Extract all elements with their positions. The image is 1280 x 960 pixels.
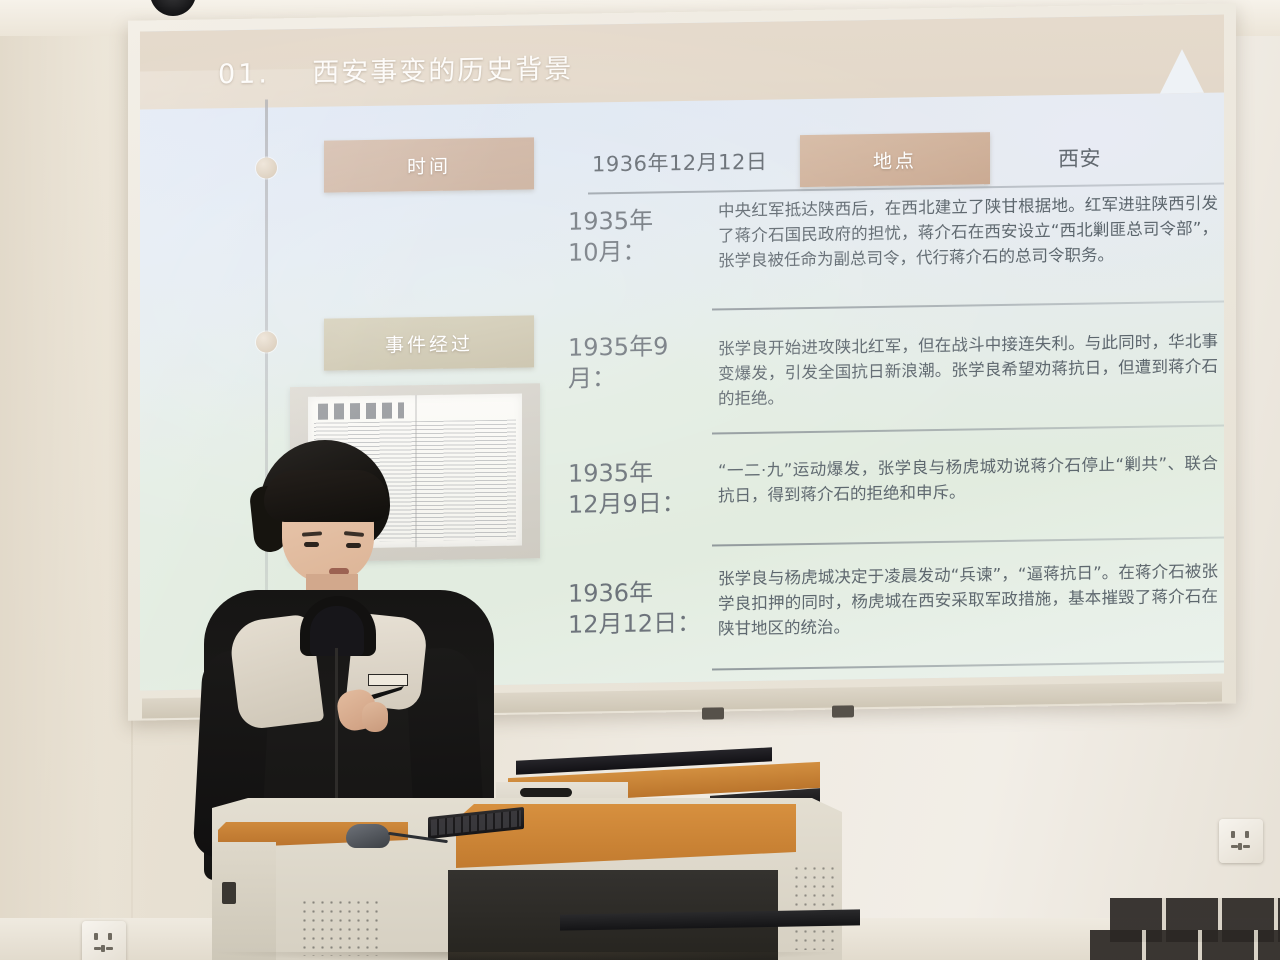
presenter-fringe <box>264 470 388 522</box>
row-body: 张学良与杨虎城决定于凌晨发动“兵谏”，“逼蒋抗日”。在蒋介石被张学良扣押的同时，… <box>718 559 1218 642</box>
outlet-holes <box>90 929 118 957</box>
chip-time: 时间 <box>324 137 534 192</box>
podium-mouse[interactable] <box>346 824 390 848</box>
row-divider <box>712 300 1224 310</box>
timeline-dot-1 <box>256 157 277 178</box>
lectern-podium: 西安翻译学院 XI'AN FANYI UNIVERSITY <box>212 752 842 960</box>
header-date-value: 1936年12月12日 <box>592 146 767 179</box>
podium-side-panel[interactable] <box>212 842 276 960</box>
slide-title-number: 01. <box>218 58 270 90</box>
row-date: 1936年 12月12日： <box>568 577 701 641</box>
newspaper-masthead <box>318 402 404 419</box>
chip-place: 地点 <box>800 132 990 187</box>
power-outlet-left[interactable] <box>82 921 126 960</box>
slide-title-text: 西安事变的历史背景 <box>312 54 573 89</box>
podium-speaker-grille-right <box>792 864 836 950</box>
slide-title: 01. 西安事变的历史背景 <box>218 47 573 92</box>
timeline-dot-2 <box>256 331 277 352</box>
row-date: 1935年 10月： <box>568 205 653 268</box>
jacket-label-tag <box>368 674 408 686</box>
presenter-eye-right <box>346 543 361 548</box>
presenter-eye-left <box>304 542 319 547</box>
row-divider <box>712 536 1224 546</box>
row-divider <box>712 424 1224 434</box>
row-date: 1935年 12月9日： <box>568 457 686 521</box>
podium-shadow <box>212 952 842 960</box>
presenter-hand-right <box>362 702 388 732</box>
classroom-scene: 01. 西安事变的历史背景 时间 事件经过 地点 1936年12月12日 西安 <box>0 0 1280 960</box>
chip-event-process: 事件经过 <box>324 315 534 370</box>
tray-clip <box>832 705 854 717</box>
timeline-row: 1935年 10月： 中央红军抵达陕西后，在西北建立了陕甘根据地。红军进驻陕西引… <box>140 190 1224 207</box>
monitor-handle <box>520 788 572 797</box>
wall-tile-strip-lower <box>1090 930 1280 960</box>
row-body: 张学良开始进攻陕北红军，但在战斗中接连失利。与此同时，华北事变爆发，引发全国抗日… <box>718 329 1218 412</box>
tray-clip <box>702 707 724 719</box>
row-date: 1935年9 月： <box>568 331 668 395</box>
row-divider <box>712 660 1224 670</box>
row-body: “一二·九”运动爆发，张学良与杨虎城劝说蒋介石停止“剿共”、联合抗日，得到蒋介石… <box>718 451 1218 509</box>
podium-speaker-grille-left <box>300 898 378 956</box>
slide-triangle-decoration <box>1160 49 1204 94</box>
outlet-holes <box>1227 827 1255 855</box>
power-outlet-right[interactable] <box>1219 819 1263 863</box>
row-body: 中央红军抵达陕西后，在西北建立了陕甘根据地。红军进驻陕西引发了蒋介石国民政府的担… <box>718 191 1218 274</box>
timeline-row: 1935年9 月： 张学良开始进攻陕北红军，但在战斗中接连失利。与此同时，华北事… <box>140 314 1224 331</box>
panel-latch-icon[interactable] <box>222 882 236 904</box>
header-place-value: 西安 <box>1058 142 1101 173</box>
